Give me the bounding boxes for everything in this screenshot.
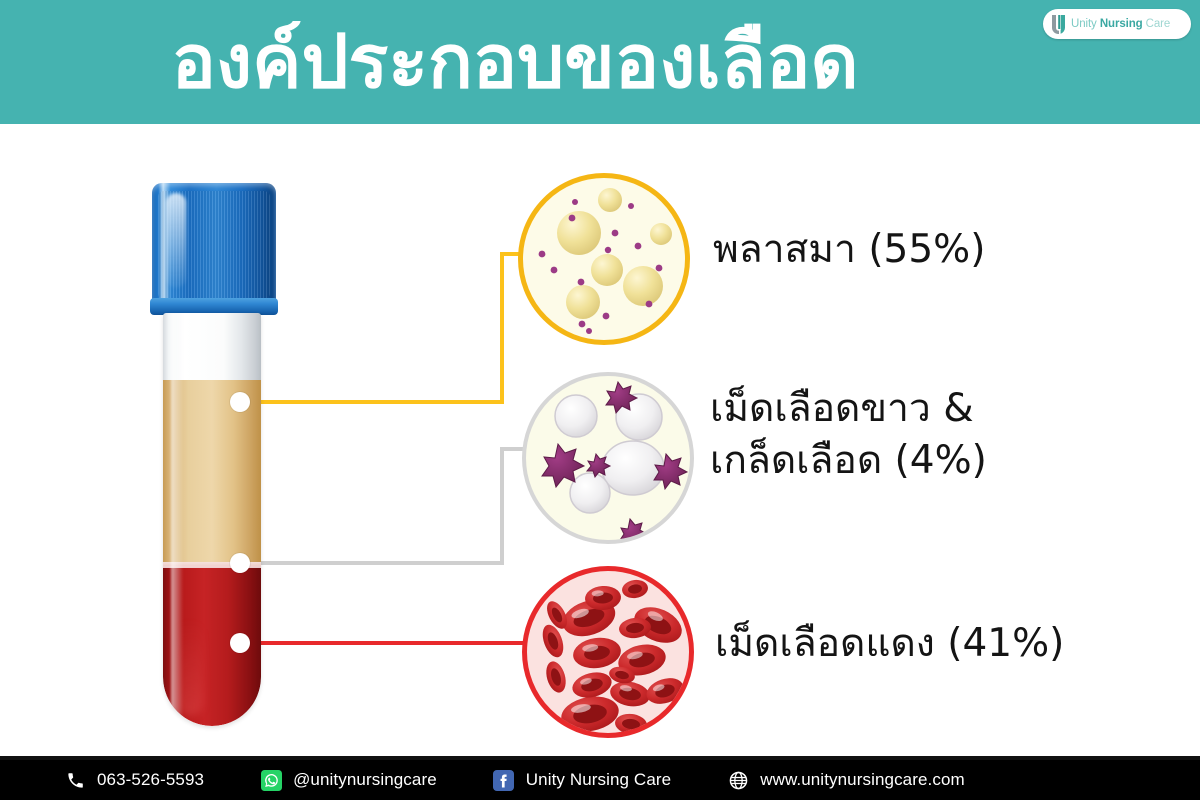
label-white-cells: เม็ดเลือดขาว & เกล็ดเลือด (4%) (710, 383, 987, 487)
blood-collection-tube (150, 180, 280, 740)
phone-icon (64, 769, 86, 791)
logo-text: Unity Nursing Care (1071, 18, 1170, 30)
label-white-cells-line1: เม็ดเลือดขาว & (710, 383, 987, 435)
footer-contact-phone[interactable]: 063-526-5593 (64, 769, 204, 791)
plasma-illustration-circle (518, 173, 690, 345)
logo-word-unity: Unity (1071, 18, 1097, 30)
page-title: องค์ประกอบของเลือด (0, 10, 1030, 114)
footer-contact-facebook[interactable]: Unity Nursing Care (493, 769, 671, 791)
white-cells-and-platelets-icon (526, 376, 694, 544)
plasma-droplets-icon (523, 178, 690, 345)
footer-website-text: www.unitynursingcare.com (760, 770, 965, 790)
connector-wbc-vertical (500, 447, 504, 565)
tube-cap (152, 183, 276, 303)
footer-contact-website[interactable]: www.unitynursingcare.com (727, 769, 965, 791)
tube-glass-body (163, 313, 261, 726)
label-red-cells: เม็ดเลือดแดง (41%) (715, 618, 1064, 670)
connector-wbc-horizontal-lower (244, 561, 504, 565)
node-dot-plasma[interactable] (230, 392, 250, 412)
tube-cap-highlight (166, 193, 186, 288)
connector-plasma-vertical (500, 252, 504, 404)
globe-icon (727, 769, 749, 791)
connector-plasma-horizontal-lower (244, 400, 504, 404)
label-plasma: พลาสมา (55%) (713, 224, 985, 276)
node-dot-wbc[interactable] (230, 553, 250, 573)
node-dot-rbc[interactable] (230, 633, 250, 653)
unity-u-mark-icon (1050, 14, 1067, 35)
white-cell-illustration-circle (522, 372, 694, 544)
footer-phone-text: 063-526-5593 (97, 770, 204, 790)
whatsapp-icon (260, 769, 282, 791)
header-bar: องค์ประกอบของเลือด Unity Nursing Care (0, 0, 1200, 124)
red-blood-cells-icon (527, 571, 694, 738)
facebook-icon (493, 769, 515, 791)
logo-word-care: Care (1146, 18, 1171, 30)
connector-rbc-horizontal (244, 641, 544, 645)
footer-whatsapp-text: @unitynursingcare (293, 770, 437, 790)
red-cell-illustration-circle (522, 566, 694, 738)
footer-bar: 063-526-5593 @unitynursingcare Unity Nur… (0, 760, 1200, 800)
footer-facebook-text: Unity Nursing Care (526, 770, 671, 790)
footer-contact-whatsapp[interactable]: @unitynursingcare (260, 769, 437, 791)
logo-word-nursing: Nursing (1100, 18, 1143, 30)
brand-logo[interactable]: Unity Nursing Care (1043, 9, 1191, 39)
label-white-cells-line2: เกล็ดเลือด (4%) (710, 435, 987, 487)
infographic-poster: องค์ประกอบของเลือด Unity Nursing Care (0, 0, 1200, 800)
